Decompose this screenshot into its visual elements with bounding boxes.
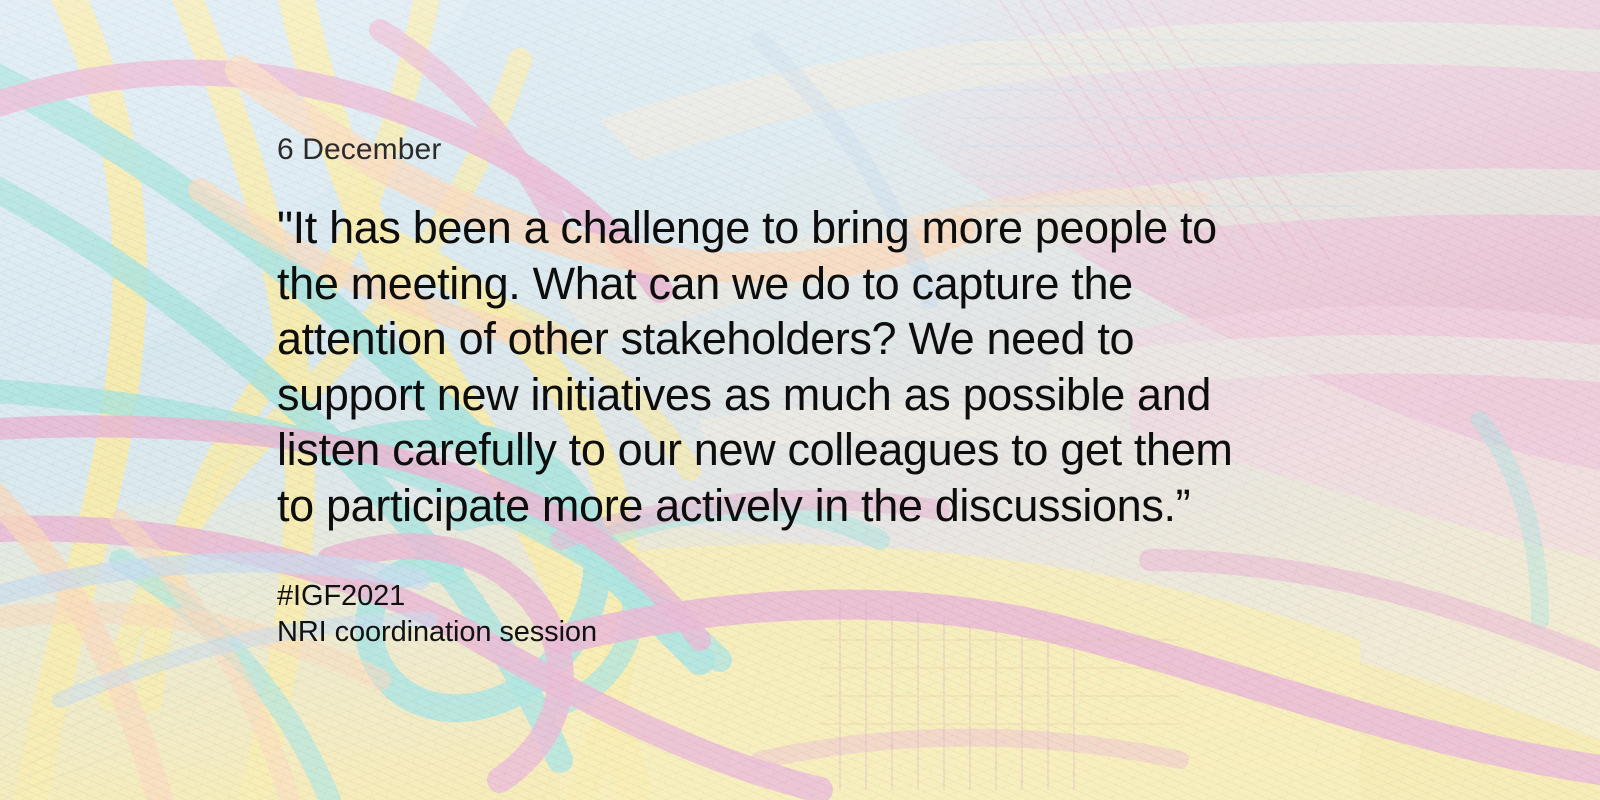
quote-line: listen carefully to our new colleagues t… [277, 422, 1312, 478]
hashtag: #IGF2021 [277, 578, 597, 614]
quote-line: "It has been a challenge to bring more p… [277, 200, 1312, 256]
card-footer: #IGF2021 NRI coordination session [277, 578, 597, 650]
quote-line: to participate more actively in the disc… [277, 478, 1312, 534]
quote-line: support new initiatives as much as possi… [277, 367, 1312, 423]
session-name: NRI coordination session [277, 614, 597, 650]
quote-line: the meeting. What can we do to capture t… [277, 256, 1312, 312]
event-date: 6 December [277, 133, 441, 167]
quote-line: attention of other stakeholders? We need… [277, 311, 1312, 367]
card-content: 6 December "It has been a challenge to b… [277, 0, 1337, 800]
quote-card: 6 December "It has been a challenge to b… [0, 0, 1600, 800]
quote-text: "It has been a challenge to bring more p… [277, 200, 1312, 533]
